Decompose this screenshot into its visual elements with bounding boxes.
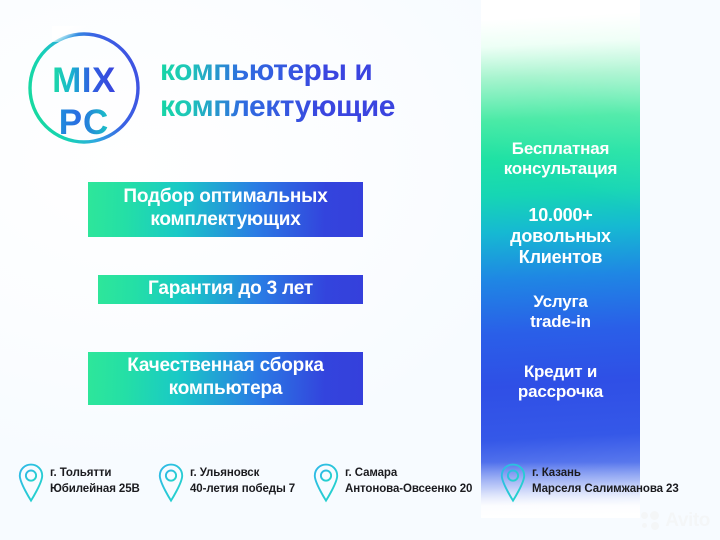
feature-bar-quality-assembly: Качественная сборка компьютера — [88, 352, 363, 405]
location-address: 40-летия победы 7 — [190, 483, 295, 495]
location-address: Юбилейная 25В — [50, 483, 140, 495]
location-text: г. КазаньМарселя Салимжанова 23 — [532, 466, 679, 499]
map-pin-icon — [158, 462, 184, 504]
location-text: г. СамараАнтонова-Овсеенко 20 — [345, 466, 472, 499]
map-pin-icon — [18, 462, 44, 504]
logo-text-mix: MIX — [52, 61, 116, 100]
location-city: г. Ульяновск — [190, 467, 259, 479]
side-block-free-consultation: Бесплатная консультация — [481, 139, 640, 179]
feature-bar-warranty: Гарантия до 3 лет — [98, 275, 363, 304]
location-city: г. Тольятти — [50, 467, 111, 479]
headline-line-2: комплектующие — [160, 89, 480, 125]
avito-logo-icon — [641, 511, 661, 531]
location-item-kazan: г. КазаньМарселя Салимжанова 23 — [500, 462, 679, 504]
map-pin-icon — [500, 462, 526, 504]
location-city: г. Казань — [532, 467, 581, 479]
location-text: г. Ульяновск40-летия победы 7 — [190, 466, 295, 499]
location-text: г. ТольяттиЮбилейная 25В — [50, 466, 140, 499]
location-address: Антонова-Овсеенко 20 — [345, 483, 472, 495]
advertisement-banner: Бесплатная консультация 10.000+ довольны… — [0, 0, 720, 540]
location-city: г. Самара — [345, 467, 397, 479]
avito-watermark: Avito — [641, 510, 710, 532]
headline-line-1: компьютеры и — [160, 53, 480, 89]
location-item-tolyatti: г. ТольяттиЮбилейная 25В — [18, 462, 140, 504]
logo-text-pc: PC — [59, 103, 110, 142]
side-block-credit-installment: Кредит и рассрочка — [481, 362, 640, 402]
location-item-samara: г. СамараАнтонова-Овсеенко 20 — [313, 462, 472, 504]
headline: компьютеры и комплектующие — [160, 53, 480, 125]
map-pin-icon — [313, 462, 339, 504]
avito-wordmark: Avito — [665, 510, 710, 532]
locations-row: г. ТольяттиЮбилейная 25В г. Ульяновск40-… — [0, 462, 720, 510]
brand-logo: MIX PC — [22, 26, 146, 150]
location-item-ulyanovsk: г. Ульяновск40-летия победы 7 — [158, 462, 295, 504]
side-block-happy-clients: 10.000+ довольных Клиентов — [481, 205, 640, 268]
location-address: Марселя Салимжанова 23 — [532, 483, 679, 495]
side-panel-text-group: Бесплатная консультация 10.000+ довольны… — [481, 0, 640, 540]
side-block-trade-in: Услуга trade-in — [481, 292, 640, 332]
feature-bar-optimal-components: Подбор оптимальных комплектующих — [88, 182, 363, 237]
